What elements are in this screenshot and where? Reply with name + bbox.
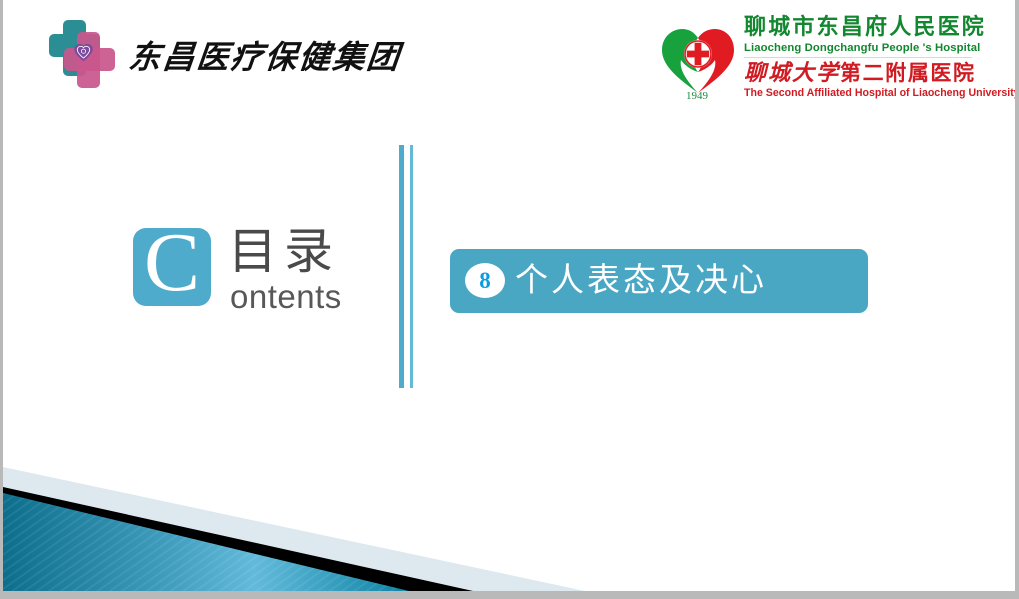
brand-left-text: 东昌医疗保健集团	[127, 32, 404, 78]
hospital-cn-name-secondary-rest: 第二附属医院	[840, 61, 976, 85]
contents-title-cn: 目录	[228, 226, 342, 278]
contents-heading: C 目录 ontents	[133, 228, 383, 323]
slide-canvas: 东昌医疗保健集团 1949 聊城市东昌府人民医院 Liaocheng Dongc…	[3, 0, 1015, 591]
item-label: 个人表态及决心	[515, 259, 767, 303]
bottom-decoration	[3, 451, 1015, 591]
contents-item-8[interactable]: 8 个人表态及决心	[450, 249, 868, 313]
emblem-year-label: 1949	[654, 90, 740, 102]
divider-rule	[744, 57, 972, 58]
hospital-name-block: 聊城市东昌府人民医院 Liaocheng Dongchangfu People …	[744, 15, 972, 99]
brand-right-logo: 1949 聊城市东昌府人民医院 Liaocheng Dongchangfu Pe…	[654, 12, 969, 108]
heart-icon	[73, 42, 94, 63]
hospital-cn-name-secondary: 聊城大学第二附属医院	[744, 60, 972, 86]
contents-title-block: 目录 ontents	[228, 226, 342, 314]
slide-header: 东昌医疗保健集团 1949 聊城市东昌府人民医院 Liaocheng Dongc…	[3, 0, 1015, 115]
hospital-cn-name-primary: 聊城市东昌府人民医院	[744, 15, 972, 41]
divider-bar-thick	[399, 145, 404, 388]
hospital-cn-name-secondary-cal: 聊城大学	[744, 60, 840, 85]
double-cross-heart-icon	[47, 18, 119, 90]
item-number-badge: 8	[465, 263, 505, 298]
contents-letter-badge: C	[133, 228, 211, 306]
hospital-en-name-secondary: The Second Affiliated Hospital of Liaoch…	[744, 87, 972, 99]
divider-bar-thin	[410, 145, 413, 388]
contents-title-en: ontents	[230, 280, 342, 314]
brand-left-logo: 东昌医疗保健集团	[47, 18, 357, 90]
hospital-en-name-primary: Liaocheng Dongchangfu People 's Hospital	[744, 42, 972, 54]
